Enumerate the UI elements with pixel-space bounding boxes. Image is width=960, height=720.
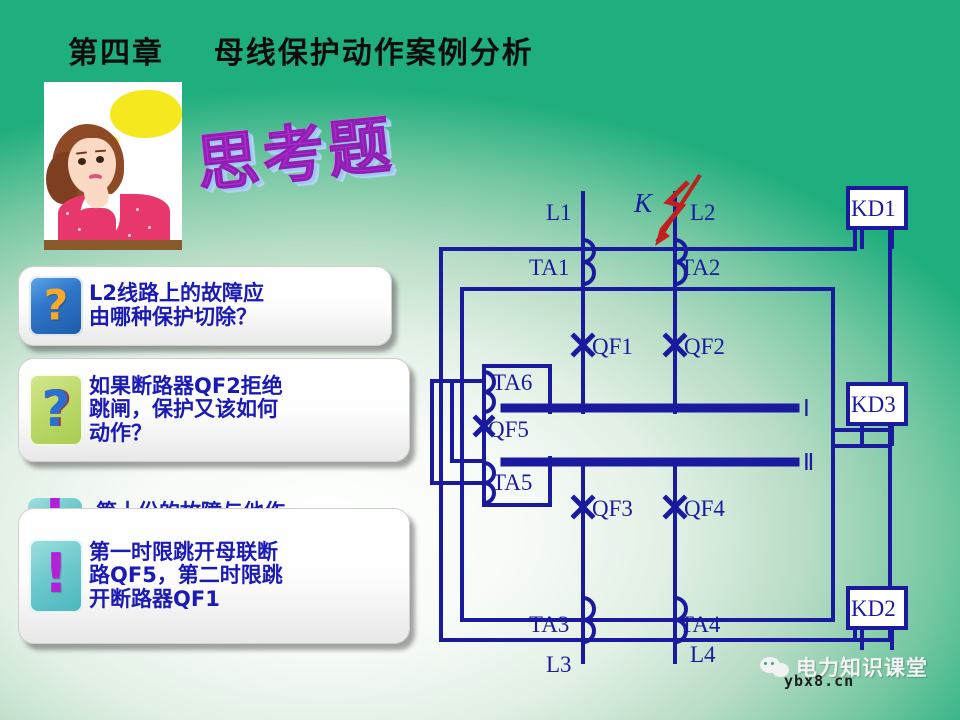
label-L2: L2 [690,200,716,225]
label-QF1: QF1 [592,334,633,359]
label-TA5: TA5 [492,470,532,495]
label-L3: L3 [546,652,572,677]
fault-arrow-head [655,228,670,246]
label-QF5: QF5 [488,417,529,442]
watermark-url: ybx8.cn [784,672,854,690]
label-TA6: TA6 [492,370,532,395]
label-KD3: KD3 [851,392,896,417]
label-TA4: TA4 [680,612,721,637]
busbar-protection-diagram: K L1 L2 L3 L4 TA1 TA2 TA3 TA4 TA5 TA6 QF… [0,0,960,720]
label-QF3: QF3 [592,496,633,521]
label-TA1: TA1 [529,255,569,280]
label-TA3: TA3 [529,612,569,637]
label-QF2: QF2 [684,334,725,359]
slide-canvas: 第四章 母线保护动作案例分析 思考题 第十份的故障与他作 L2线路上的故障应 由… [0,0,960,720]
fault-label: K [633,188,654,218]
label-KD1: KD1 [851,196,896,221]
label-busbar-1: Ⅰ [803,396,810,421]
label-QF4: QF4 [684,496,725,521]
label-L1: L1 [546,200,572,225]
label-TA2: TA2 [680,255,720,280]
kd1-wire-loop [441,249,890,640]
label-KD2: KD2 [851,596,896,621]
kd3-wire-loop [462,289,833,620]
label-L4: L4 [690,642,716,667]
label-busbar-2: Ⅱ [803,450,814,475]
